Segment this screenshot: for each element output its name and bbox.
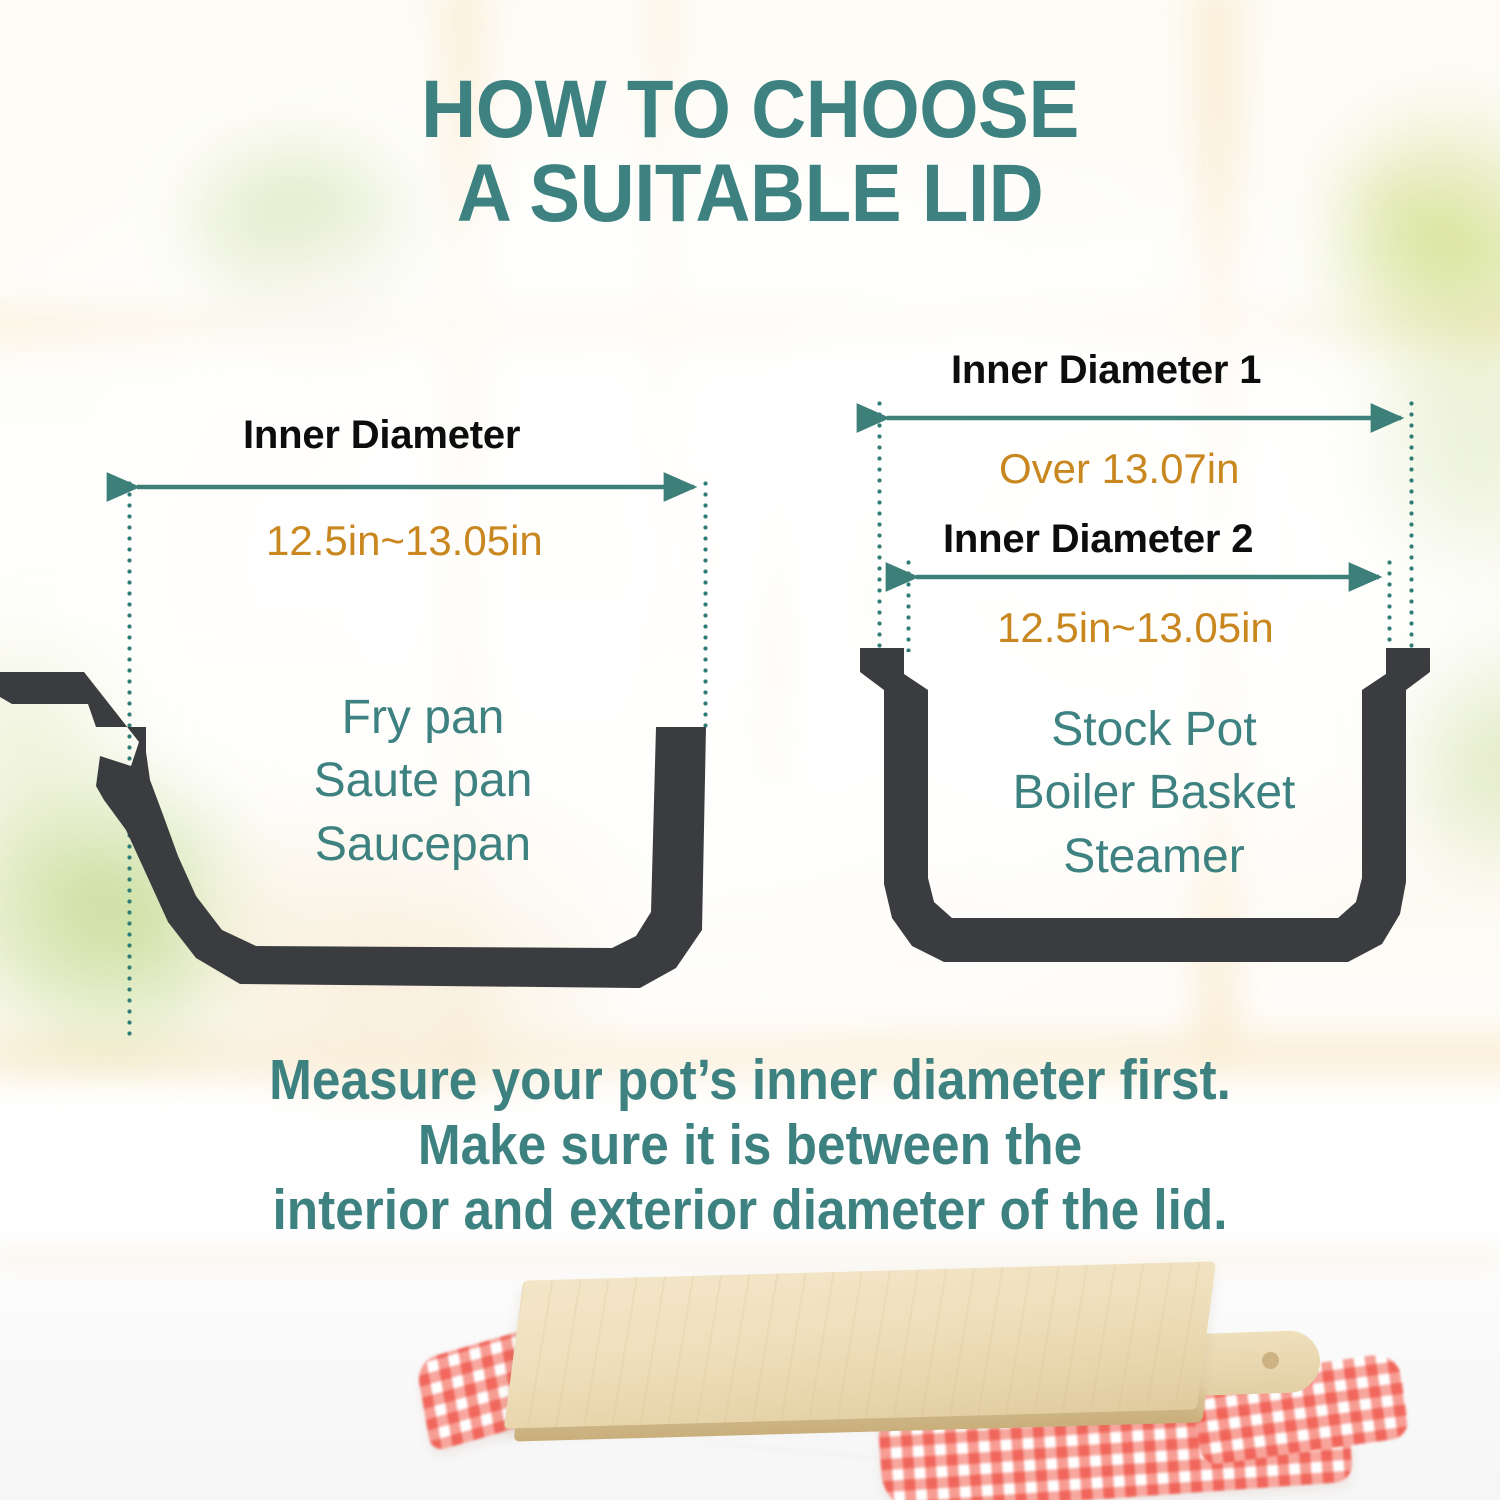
- right-inner-diameter-2-label: Inner Diameter 2: [943, 517, 1253, 562]
- right-pot-type-2: Steamer: [901, 825, 1407, 888]
- right-pot-types: Stock Pot Boiler Basket Steamer: [901, 698, 1407, 888]
- instruction-line-1: Measure your pot’s inner diameter first.: [75, 1048, 1425, 1113]
- instruction-line-3: interior and exterior diameter of the li…: [75, 1178, 1425, 1243]
- right-inner-diameter-2-value: 12.5in~13.05in: [997, 604, 1274, 652]
- left-pot-type-0: Fry pan: [173, 686, 673, 749]
- left-pot-type-1: Saute pan: [173, 749, 673, 812]
- instruction-line-2: Make sure it is between the: [75, 1113, 1425, 1178]
- left-pot-type-2: Saucepan: [173, 813, 673, 876]
- right-pot-type-0: Stock Pot: [901, 698, 1407, 761]
- left-inner-diameter-label: Inner Diameter: [243, 413, 520, 458]
- left-inner-diameter-value: 12.5in~13.05in: [266, 517, 543, 565]
- instruction-text: Measure your pot’s inner diameter first.…: [75, 1048, 1425, 1243]
- left-pot-types: Fry pan Saute pan Saucepan: [173, 686, 673, 876]
- infographic-canvas: HOW TO CHOOSE A SUITABLE LID: [0, 0, 1500, 1500]
- right-inner-diameter-1-value: Over 13.07in: [999, 445, 1239, 493]
- right-pot-type-1: Boiler Basket: [901, 761, 1407, 824]
- right-inner-diameter-1-label: Inner Diameter 1: [951, 348, 1261, 393]
